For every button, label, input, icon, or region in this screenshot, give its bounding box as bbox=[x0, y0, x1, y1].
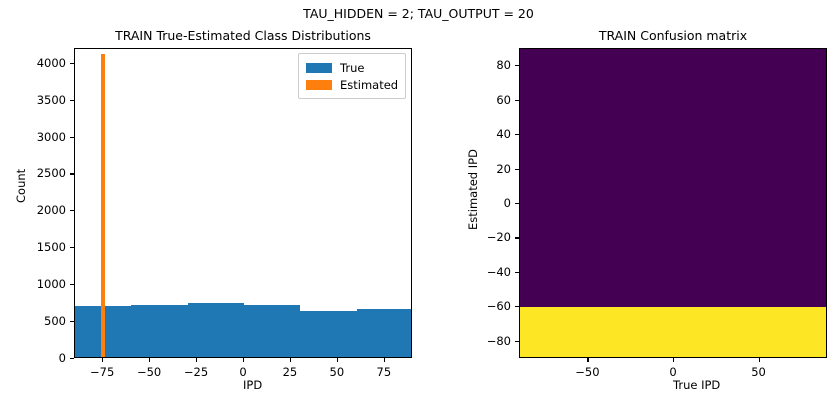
confusion-matrix-band bbox=[520, 49, 826, 307]
y-tick-label: 4000 bbox=[2, 56, 66, 70]
y-tick-mark bbox=[70, 210, 74, 211]
x-tick-label: 0 bbox=[669, 365, 676, 379]
y-tick-label: 80 bbox=[467, 58, 511, 72]
y-tick-mark bbox=[70, 63, 74, 64]
y-tick-mark bbox=[515, 100, 519, 101]
y-tick-mark bbox=[515, 203, 519, 204]
x-tick-mark bbox=[759, 358, 760, 362]
legend-label-true: True bbox=[340, 61, 364, 75]
left-y-axis-label: Count bbox=[14, 169, 28, 203]
x-tick-mark bbox=[290, 358, 291, 362]
x-tick-mark bbox=[337, 358, 338, 362]
histogram-bar bbox=[244, 305, 300, 357]
y-tick-label: 3000 bbox=[2, 130, 66, 144]
x-tick-label: −50 bbox=[137, 365, 161, 379]
x-tick-mark bbox=[196, 358, 197, 362]
y-tick-label: 3500 bbox=[2, 93, 66, 107]
x-tick-label: 0 bbox=[239, 365, 246, 379]
y-tick-mark bbox=[515, 169, 519, 170]
y-tick-mark bbox=[70, 321, 74, 322]
confusion-matrix-plot-area bbox=[519, 48, 827, 358]
y-tick-label: −80 bbox=[467, 334, 511, 348]
y-tick-mark bbox=[515, 272, 519, 273]
x-tick-label: 75 bbox=[377, 365, 392, 379]
legend-swatch-estimated-icon bbox=[306, 80, 332, 90]
x-tick-label: −50 bbox=[575, 365, 599, 379]
legend-item-estimated: Estimated bbox=[306, 76, 398, 93]
y-tick-mark bbox=[70, 247, 74, 248]
y-tick-label: 1000 bbox=[2, 277, 66, 291]
right-y-axis-label: Estimated IPD bbox=[466, 149, 480, 230]
y-tick-label: 0 bbox=[2, 351, 66, 365]
y-tick-mark bbox=[515, 237, 519, 238]
y-tick-label: 2000 bbox=[2, 203, 66, 217]
y-tick-mark bbox=[515, 341, 519, 342]
x-tick-mark bbox=[243, 358, 244, 362]
legend-item-true: True bbox=[306, 59, 398, 76]
y-tick-mark bbox=[70, 137, 74, 138]
x-tick-mark bbox=[587, 358, 588, 362]
estimated-spike-bar bbox=[101, 54, 105, 357]
y-tick-label: 1500 bbox=[2, 240, 66, 254]
y-tick-mark bbox=[515, 65, 519, 66]
legend-swatch-true-icon bbox=[306, 63, 332, 73]
histogram-bar bbox=[300, 311, 356, 358]
y-tick-mark bbox=[70, 100, 74, 101]
matplotlib-figure: TAU_HIDDEN = 2; TAU_OUTPUT = 20 TRAIN Tr… bbox=[0, 0, 837, 411]
x-tick-mark bbox=[102, 358, 103, 362]
y-tick-label: −60 bbox=[467, 299, 511, 313]
left-plot-legend[interactable]: True Estimated bbox=[298, 53, 406, 99]
y-tick-mark bbox=[515, 306, 519, 307]
y-tick-label: 2500 bbox=[2, 166, 66, 180]
histogram-bar bbox=[357, 309, 412, 357]
histogram-bar bbox=[131, 305, 187, 357]
left-axes-title: TRAIN True-Estimated Class Distributions bbox=[74, 28, 412, 43]
y-tick-label: 40 bbox=[467, 127, 511, 141]
x-tick-mark bbox=[384, 358, 385, 362]
histogram-bar bbox=[188, 303, 244, 357]
right-axes-title: TRAIN Confusion matrix bbox=[519, 28, 827, 43]
y-tick-label: 500 bbox=[2, 314, 66, 328]
confusion-matrix-band bbox=[520, 307, 826, 358]
x-tick-mark bbox=[149, 358, 150, 362]
y-tick-label: −40 bbox=[467, 265, 511, 279]
y-tick-mark bbox=[515, 134, 519, 135]
legend-label-estimated: Estimated bbox=[340, 78, 398, 92]
y-tick-label: 60 bbox=[467, 93, 511, 107]
figure-suptitle: TAU_HIDDEN = 2; TAU_OUTPUT = 20 bbox=[0, 6, 837, 21]
x-tick-label: −25 bbox=[184, 365, 208, 379]
x-tick-mark bbox=[673, 358, 674, 362]
x-tick-label: 25 bbox=[283, 365, 298, 379]
y-tick-mark bbox=[70, 284, 74, 285]
y-tick-mark bbox=[70, 173, 74, 174]
x-tick-label: 50 bbox=[751, 365, 766, 379]
x-tick-label: 50 bbox=[330, 365, 345, 379]
x-tick-label: −75 bbox=[90, 365, 114, 379]
y-tick-label: −20 bbox=[467, 230, 511, 244]
y-tick-mark bbox=[70, 358, 74, 359]
